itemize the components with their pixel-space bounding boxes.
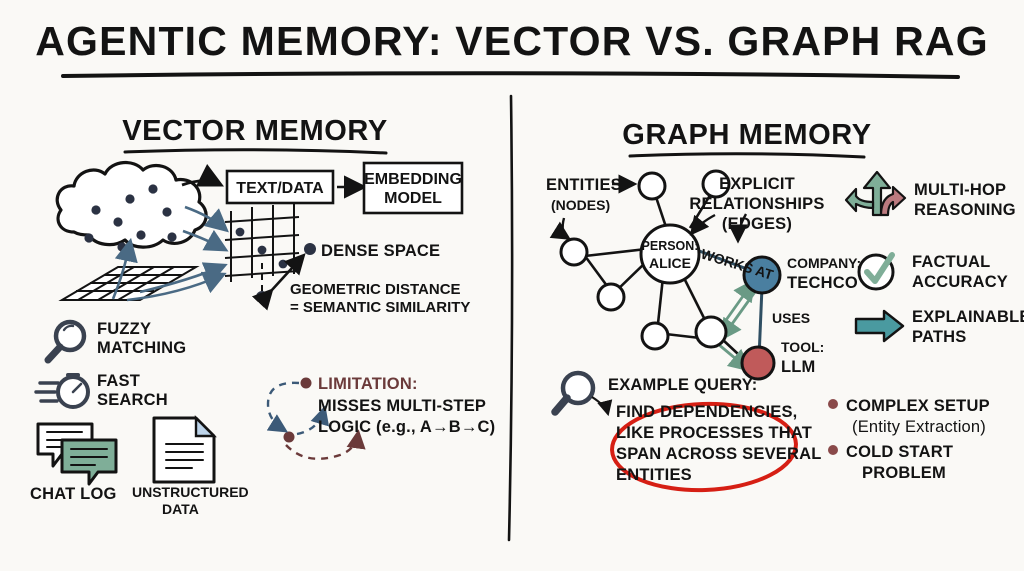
example-query-line-4: ENTITIES — [616, 466, 692, 484]
check-circle-icon — [859, 255, 893, 289]
explainable-line2: PATHS — [912, 328, 966, 346]
factual-line1: FACTUAL — [912, 253, 990, 271]
graph-node-plain-3 — [561, 239, 587, 265]
limitation-dot-top — [301, 378, 312, 389]
example-query-line-1: FIND DEPENDENCIES, — [616, 403, 797, 421]
limitation-title: LIMITATION: — [318, 375, 418, 393]
tool-label-line1: TOOL: — [781, 339, 824, 355]
chat-log-label: CHAT LOG — [30, 485, 117, 503]
graph-node-plain-1 — [639, 173, 665, 199]
limitation-line1: MISSES MULTI-STEP — [318, 397, 486, 415]
entities-line1: ENTITIES — [546, 176, 622, 194]
edges-line2: RELATIONSHIPS — [689, 195, 824, 213]
fuzzy-matching-line1: FUZZY — [97, 320, 151, 338]
tool-label-line2: LLM — [781, 358, 816, 376]
vector-memory-header: VECTOR MEMORY — [122, 115, 388, 147]
drawback-1-line1: COMPLEX SETUP — [846, 397, 990, 415]
pipeline-box-embedding-model: EMBEDDING MODEL — [364, 163, 462, 213]
factual-line2: ACCURACY — [912, 273, 1008, 291]
example-query-title: EXAMPLE QUERY: — [608, 376, 757, 394]
drawback-bullet-1 — [828, 399, 838, 409]
graph-node-person-alice — [641, 225, 699, 283]
graph-node-tool-llm — [742, 347, 774, 379]
page-title-text: AGENTIC MEMORY: VECTOR VS. GRAPH RAG — [35, 18, 989, 64]
dense-space-label: DENSE SPACE — [321, 242, 440, 260]
document-icon — [154, 418, 214, 482]
geometric-distance-line1: GEOMETRIC DISTANCE — [290, 281, 461, 298]
multi-hop-line1: MULTI-HOP — [914, 181, 1006, 199]
embedding-label-line1: EMBEDDING — [364, 171, 462, 188]
entities-line2: (NODES) — [551, 197, 610, 213]
text-data-label: TEXT/DATA — [236, 180, 324, 197]
fuzzy-matching-line2: MATCHING — [97, 339, 186, 357]
unstructured-line1: UNSTRUCTURED — [132, 484, 249, 500]
example-query-line-2: LIKE PROCESSES THAT — [616, 424, 812, 442]
edge-label-uses: USES — [772, 310, 810, 326]
limitation-line2: LOGIC (e.g., A→B→C) — [318, 418, 495, 436]
drawback-2-line1: COLD START — [846, 443, 953, 461]
edges-line1: EXPLICIT — [719, 175, 795, 193]
edges-line3: (EDGES) — [722, 215, 792, 233]
person-node-line1: PERSON: — [642, 239, 699, 253]
graph-memory-header: GRAPH MEMORY — [622, 119, 871, 151]
geometric-distance-line2: = SEMANTIC SIMILARITY — [290, 299, 470, 316]
embedding-label-line2: MODEL — [384, 190, 442, 207]
graph-node-hub — [696, 317, 726, 347]
example-query-line-3: SPAN ACROSS SEVERAL — [616, 445, 822, 463]
person-node-line2: ALICE — [649, 255, 691, 271]
dense-point-lower — [256, 291, 268, 303]
pipeline-box-text-data: TEXT/DATA — [227, 171, 333, 203]
multi-hop-line2: REASONING — [914, 201, 1016, 219]
graph-node-plain-4 — [598, 284, 624, 310]
drawback-bullet-2 — [828, 445, 838, 455]
graph-node-plain-5 — [642, 323, 668, 349]
fast-search-line2: SEARCH — [97, 391, 168, 409]
company-label-line2: TECHCO — [787, 274, 858, 292]
infographic-root: AGENTIC MEMORY: VECTOR VS. GRAPH RAG VEC… — [0, 0, 1024, 571]
fast-search-line1: FAST — [97, 372, 140, 390]
drawback-2-line2: PROBLEM — [862, 464, 946, 482]
dense-point-upper — [304, 243, 316, 255]
company-label-line1: COMPANY: — [787, 255, 861, 271]
drawback-1-line2: (Entity Extraction) — [852, 418, 986, 436]
infographic-canvas: AGENTIC MEMORY: VECTOR VS. GRAPH RAG VEC… — [0, 0, 1024, 571]
explainable-line1: EXPLAINABLE — [912, 308, 1024, 326]
limitation-dot-bottom — [284, 432, 295, 443]
unstructured-line2: DATA — [162, 501, 199, 517]
